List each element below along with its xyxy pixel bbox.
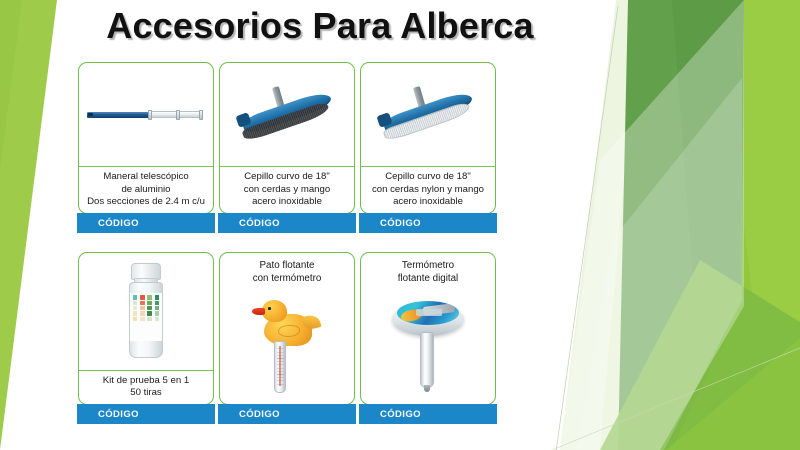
caption-line: con cerdas nylon y mango xyxy=(364,184,492,197)
color-chart-column-3 xyxy=(147,295,152,339)
hairline-diagonal-2 xyxy=(552,348,800,450)
page-title: Accesorios Para Alberca xyxy=(106,6,534,46)
product-image-curved-brush-dark xyxy=(220,63,354,166)
duck-eye xyxy=(268,307,271,310)
color-swatch xyxy=(140,306,145,310)
hairline-diagonal xyxy=(556,6,618,450)
product-image-duck-thermometer xyxy=(220,288,354,404)
caption-line: Cepillo curvo de 18" xyxy=(364,171,492,184)
color-swatch xyxy=(147,311,152,315)
float-lcd-display xyxy=(416,309,442,316)
right-bright-facet xyxy=(676,0,800,450)
curved-brush-nylon-icon xyxy=(376,78,480,152)
codigo-label: CÓDIGO xyxy=(380,409,421,420)
codigo-label: CÓDIGO xyxy=(380,218,421,229)
codigo-bar[interactable]: CÓDIGO xyxy=(218,404,356,424)
right-dark-facet-shade xyxy=(672,0,744,372)
color-swatch xyxy=(133,317,138,321)
caption-line: con cerdas y mango xyxy=(223,184,351,197)
color-swatch xyxy=(140,295,145,299)
product-caption: Cepillo curvo de 18" con cerdas nylon y … xyxy=(361,166,495,213)
color-swatch xyxy=(147,301,152,305)
color-swatch xyxy=(147,306,152,310)
pole-collar-2 xyxy=(176,110,180,120)
product-row-top: Maneral telescópico de aluminio Dos secc… xyxy=(78,62,498,214)
product-card-termometro-flotante[interactable]: Termómetro flotante digital CÓDIGO xyxy=(360,252,496,405)
pole-collar-1 xyxy=(148,110,152,120)
test-strip-bottle-icon xyxy=(126,263,166,359)
bottle-color-chart xyxy=(130,293,162,341)
telescopic-pole-icon xyxy=(87,109,205,121)
codigo-label: CÓDIGO xyxy=(98,218,139,229)
codigo-label: CÓDIGO xyxy=(239,218,280,229)
caption-line: Termómetro xyxy=(364,260,492,273)
product-grid: Maneral telescópico de aluminio Dos secc… xyxy=(78,62,498,405)
color-chart-column-4 xyxy=(155,295,160,339)
left-green-wedge xyxy=(0,0,57,450)
color-chart-column-1 xyxy=(133,295,138,339)
product-caption: Pato flotante con termómetro xyxy=(220,253,354,288)
color-swatch xyxy=(155,306,160,310)
product-image-curved-brush-nylon xyxy=(361,63,495,166)
product-card-kit-de-prueba[interactable]: Kit de prueba 5 en 1 50 tiras CÓDIGO xyxy=(78,252,214,405)
color-swatch xyxy=(155,317,160,321)
pole-dark-segment xyxy=(87,112,151,118)
product-card-pato-flotante[interactable]: Pato flotante con termómetro xyxy=(219,252,355,405)
product-image-test-strip-bottle xyxy=(79,253,213,370)
caption-line: acero inoxidable xyxy=(223,196,351,209)
color-swatch xyxy=(155,301,160,305)
product-image-floating-thermometer xyxy=(361,288,495,404)
thermometer-mercury xyxy=(279,346,281,386)
color-swatch xyxy=(133,311,138,315)
caption-line: Kit de prueba 5 en 1 xyxy=(82,375,210,388)
product-card-maneral-telescopico[interactable]: Maneral telescópico de aluminio Dos secc… xyxy=(78,62,214,214)
codigo-bar[interactable]: CÓDIGO xyxy=(77,213,215,233)
pole-collar-3 xyxy=(199,110,203,120)
caption-line: Cepillo curvo de 18" xyxy=(223,171,351,184)
color-swatch xyxy=(147,295,152,299)
product-caption: Kit de prueba 5 en 1 50 tiras xyxy=(79,370,213,404)
right-pale-facet-a xyxy=(560,0,800,450)
product-card-cepillo-curvo-nylon[interactable]: Cepillo curvo de 18" con cerdas nylon y … xyxy=(360,62,496,214)
curved-brush-icon xyxy=(235,78,339,152)
color-chart-column-2 xyxy=(140,295,145,339)
color-swatch xyxy=(133,295,138,299)
product-caption: Maneral telescópico de aluminio Dos secc… xyxy=(79,166,213,213)
caption-line: flotante digital xyxy=(364,273,492,286)
color-swatch xyxy=(147,317,152,321)
caption-line: 50 tiras xyxy=(82,387,210,400)
color-swatch xyxy=(133,306,138,310)
codigo-label: CÓDIGO xyxy=(98,409,139,420)
color-swatch xyxy=(140,311,145,315)
right-light-overlay-2 xyxy=(576,78,742,450)
codigo-bar[interactable]: CÓDIGO xyxy=(359,404,497,424)
duck-beak xyxy=(252,308,265,315)
color-swatch xyxy=(133,301,138,305)
product-caption: Termómetro flotante digital xyxy=(361,253,495,288)
right-dark-facet xyxy=(618,0,744,450)
caption-line: Pato flotante xyxy=(223,260,351,273)
color-swatch xyxy=(140,301,145,305)
product-image-telescopic-pole xyxy=(79,63,213,166)
right-mid-facet xyxy=(600,260,800,450)
caption-line: con termómetro xyxy=(223,273,351,286)
right-bright-facet-2 xyxy=(718,0,800,450)
product-row-bottom: Kit de prueba 5 en 1 50 tiras CÓDIGO Pat… xyxy=(78,252,498,405)
float-stem xyxy=(420,332,434,388)
title-block: Accesorios Para Alberca xyxy=(0,6,640,46)
color-swatch xyxy=(140,317,145,321)
right-light-overlay xyxy=(560,0,744,450)
float-probe-tip xyxy=(424,385,430,392)
codigo-bar[interactable]: CÓDIGO xyxy=(77,404,215,424)
product-card-cepillo-curvo-cerdas[interactable]: Cepillo curvo de 18" con cerdas y mango … xyxy=(219,62,355,214)
product-caption: Cepillo curvo de 18" con cerdas y mango … xyxy=(220,166,354,213)
right-pale-facet-b xyxy=(600,0,800,450)
duck-head xyxy=(262,300,287,322)
color-swatch xyxy=(155,295,160,299)
color-swatch xyxy=(155,311,160,315)
caption-line: Dos secciones de 2.4 m c/u xyxy=(82,196,210,209)
caption-line: acero inoxidable xyxy=(364,196,492,209)
duck-thermometer-icon xyxy=(248,294,326,398)
slide-canvas: Accesorios Para Alberca Maneral telescóp xyxy=(0,0,800,450)
right-mid-facet-2 xyxy=(666,338,800,450)
codigo-bar[interactable]: CÓDIGO xyxy=(359,213,497,233)
caption-line: Maneral telescópico xyxy=(82,171,210,184)
codigo-bar[interactable]: CÓDIGO xyxy=(218,213,356,233)
floating-thermometer-icon xyxy=(386,296,470,396)
codigo-label: CÓDIGO xyxy=(239,409,280,420)
caption-line: de aluminio xyxy=(82,184,210,197)
